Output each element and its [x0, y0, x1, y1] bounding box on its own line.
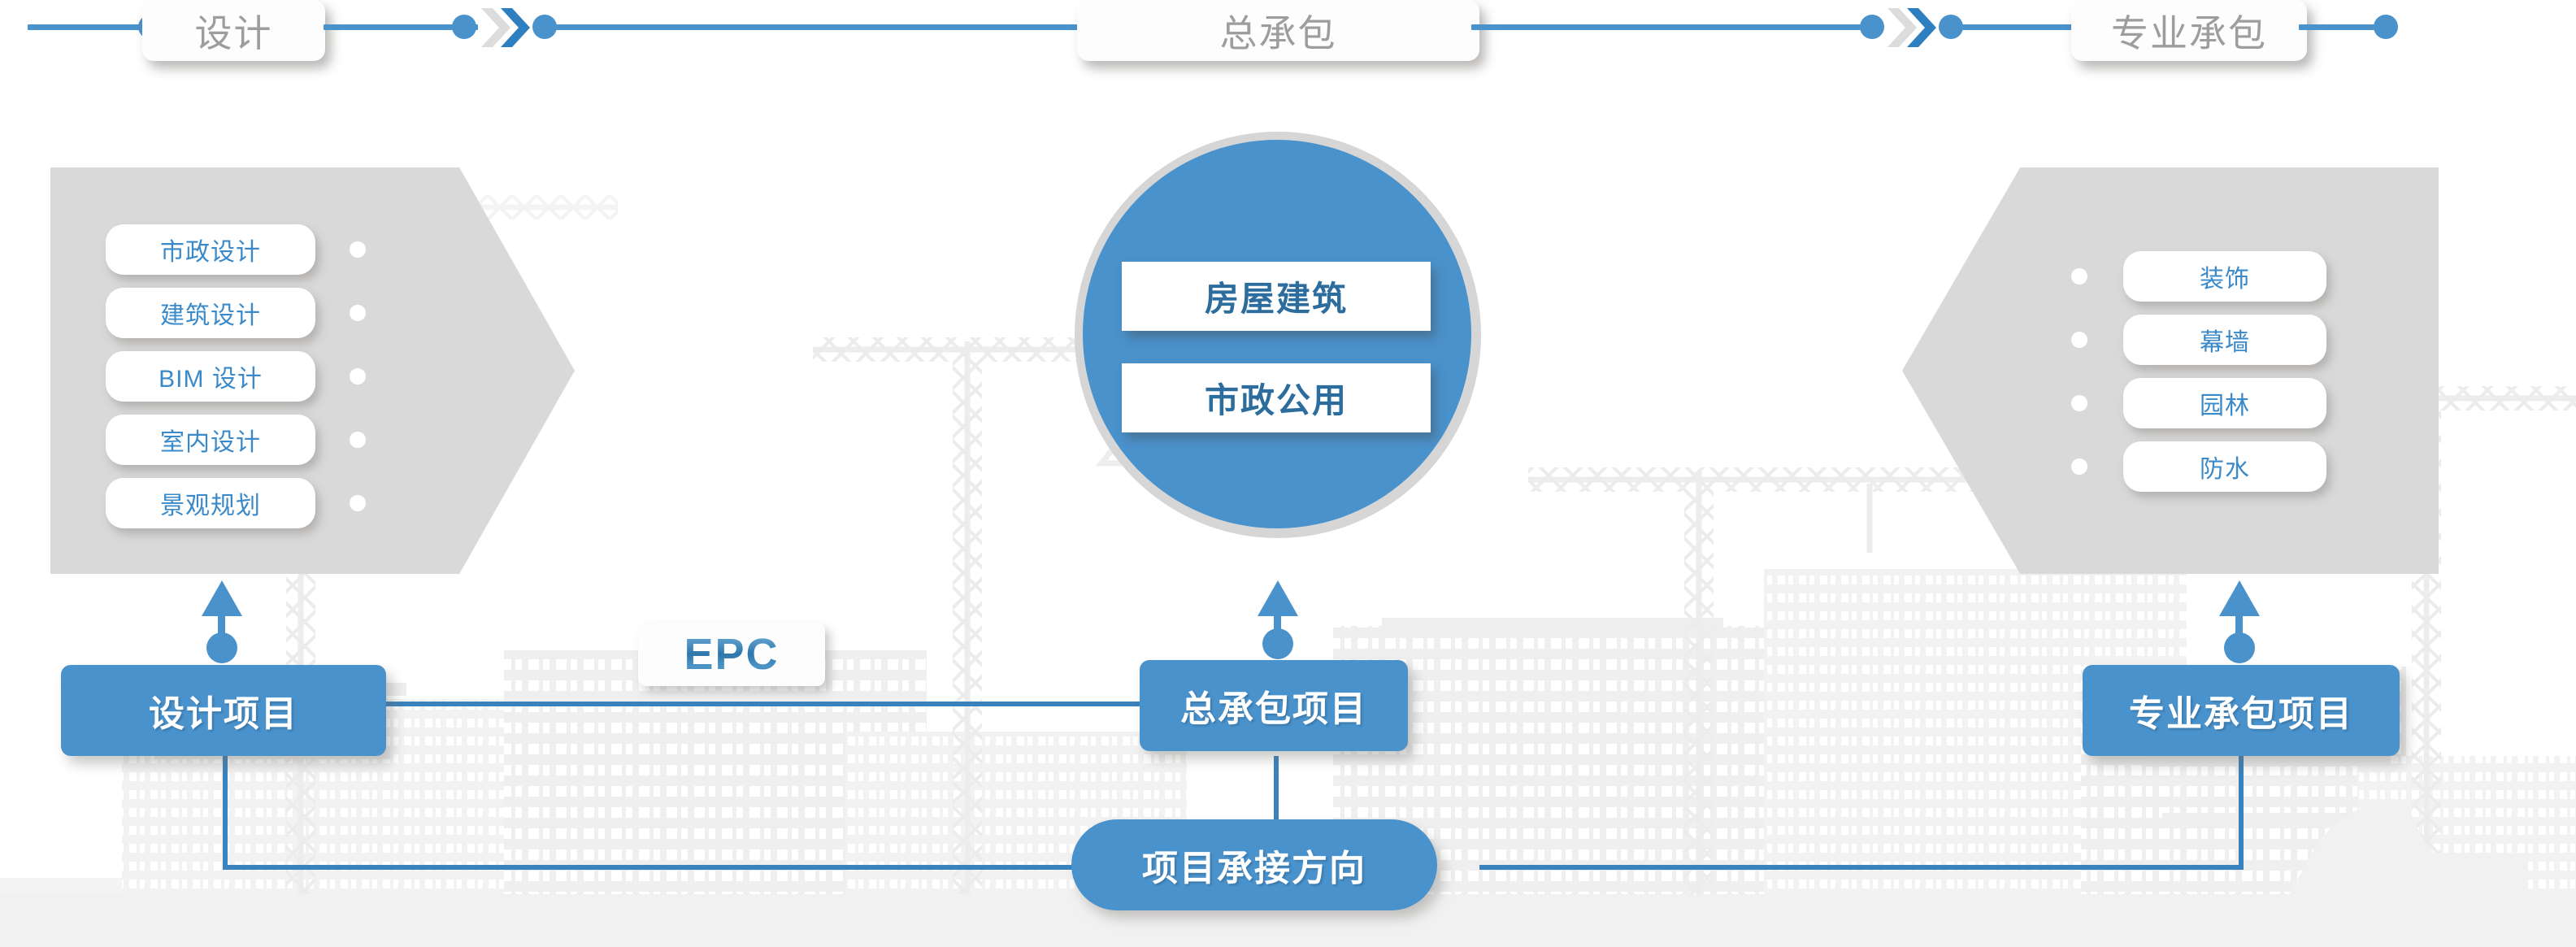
timeline-dot-4: [1860, 15, 1884, 39]
bottom-box-design-project-label: 设计项目: [149, 684, 298, 736]
project-direction-pill[interactable]: 项目承接方向: [1071, 819, 1437, 910]
timeline-segment-4: [1471, 24, 1878, 30]
right-panel-bullet-1: [2071, 268, 2087, 285]
left-panel-item-2[interactable]: 建筑设计: [106, 288, 315, 338]
center-circle-item-2-label: 市政公用: [1205, 373, 1348, 423]
left-panel-bullet-1: [350, 241, 366, 258]
timeline-dot-2: [452, 15, 476, 39]
right-panel-item-3-label: 园林: [2200, 385, 2250, 421]
right-panel-bullet-4: [2071, 458, 2087, 475]
left-panel-item-3[interactable]: BIM 设计: [106, 351, 315, 402]
project-direction-pill-label: 项目承接方向: [1142, 839, 1366, 891]
connector-right-vertical: [2239, 756, 2244, 870]
left-panel-item-3-label: BIM 设计: [159, 358, 263, 394]
left-panel-item-5-label: 景观规划: [160, 485, 261, 521]
infographic-canvas: 设计 总承包 专业承包 市政设计 建筑设计 BIM 设计 室内设计 景: [0, 0, 2576, 947]
timeline-segment-5: [1953, 24, 2083, 30]
timeline-stage-design-label: 设计: [195, 4, 273, 58]
bottom-box-general-contracting-project[interactable]: 总承包项目: [1140, 660, 1408, 751]
bottom-box-specialty-contracting-project[interactable]: 专业承包项目: [2083, 665, 2400, 756]
timeline-segment-1: [28, 24, 150, 30]
timeline-stage-general-contracting[interactable]: 总承包: [1077, 0, 1479, 61]
left-panel-item-4-label: 室内设计: [160, 422, 261, 458]
left-panel-item-5[interactable]: 景观规划: [106, 478, 315, 528]
bottom-box-general-contracting-project-label: 总承包项目: [1180, 680, 1367, 732]
left-panel-bullet-3: [350, 368, 366, 384]
left-panel-bullet-2: [350, 305, 366, 321]
right-panel-item-1-label: 装饰: [2200, 258, 2250, 294]
left-panel-item-1[interactable]: 市政设计: [106, 224, 315, 275]
bottom-box-specialty-contracting-project-label: 专业承包项目: [2129, 684, 2353, 736]
connector-center-vertical: [1274, 756, 1279, 821]
center-circle: [1083, 140, 1471, 528]
left-panel-bullet-4: [350, 432, 366, 448]
timeline-stage-specialty-contracting-label: 专业承包: [2111, 4, 2267, 58]
chevron-double-right-icon-1: [480, 7, 530, 49]
center-circle-item-2[interactable]: 市政公用: [1122, 363, 1431, 432]
connector-right-bottom-horizontal: [1479, 865, 2244, 870]
timeline-segment-3: [546, 24, 1079, 30]
right-capability-panel: [1902, 167, 2439, 574]
left-panel-item-4[interactable]: 室内设计: [106, 415, 315, 465]
left-panel-bullet-5: [350, 495, 366, 511]
connector-left-to-center: [379, 702, 1143, 706]
epc-badge[interactable]: EPC: [638, 623, 825, 686]
center-circle-item-1-label: 房屋建筑: [1205, 272, 1348, 321]
right-panel-bullet-3: [2071, 395, 2087, 411]
connector-left-vertical: [223, 756, 228, 870]
right-arrow-ball: [2224, 632, 2255, 663]
right-panel-item-2[interactable]: 幕墙: [2123, 315, 2326, 365]
left-panel-item-1-label: 市政设计: [160, 232, 261, 267]
left-panel-item-2-label: 建筑设计: [160, 295, 261, 331]
timeline-stage-specialty-contracting[interactable]: 专业承包: [2071, 0, 2307, 61]
right-panel-bullet-2: [2071, 332, 2087, 348]
bottom-box-design-project[interactable]: 设计项目: [61, 665, 386, 756]
center-arrow-ball: [1262, 628, 1293, 659]
chevron-double-right-icon-2: [1886, 7, 1936, 49]
timeline-stage-general-contracting-label: 总承包: [1220, 4, 1337, 58]
left-arrow-ball: [206, 632, 237, 663]
timeline-dot-6: [2374, 15, 2398, 39]
right-panel-item-4-label: 防水: [2200, 449, 2250, 484]
right-panel-item-2-label: 幕墙: [2200, 322, 2250, 358]
timeline-stage-design[interactable]: 设计: [142, 0, 325, 61]
connector-left-bottom-horizontal: [223, 865, 1084, 870]
right-panel-item-1[interactable]: 装饰: [2123, 251, 2326, 302]
right-panel-item-3[interactable]: 园林: [2123, 378, 2326, 428]
center-circle-item-1[interactable]: 房屋建筑: [1122, 262, 1431, 331]
right-panel-item-4[interactable]: 防水: [2123, 441, 2326, 492]
epc-badge-label: EPC: [684, 629, 779, 680]
